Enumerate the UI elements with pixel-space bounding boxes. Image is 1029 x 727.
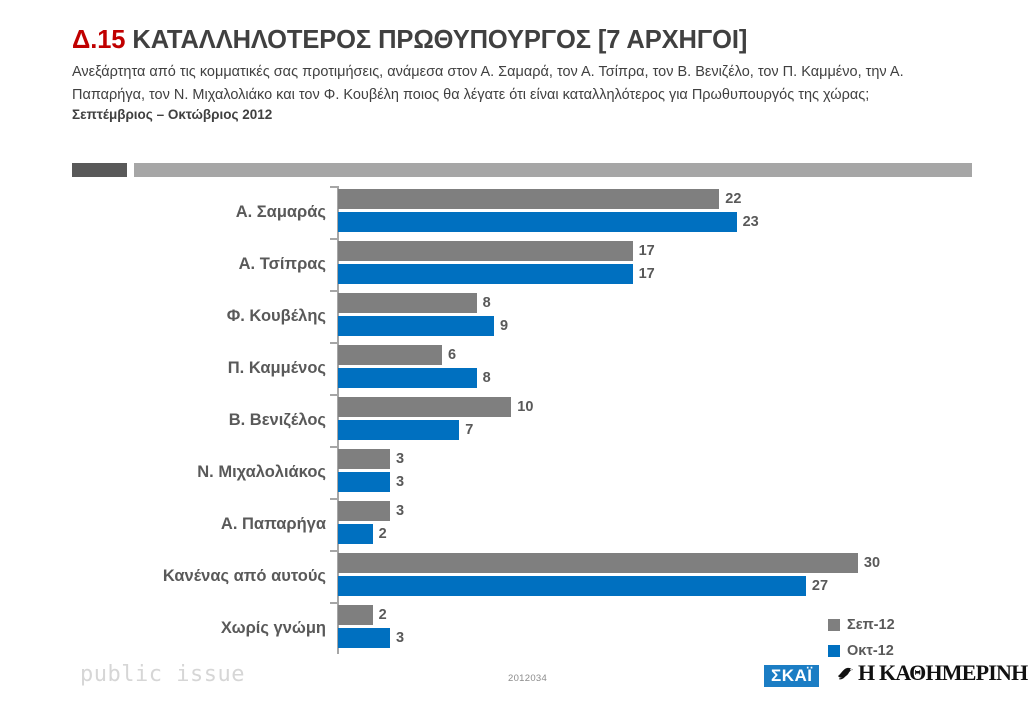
bar-value-label: 7 <box>465 420 473 440</box>
bar-value-label: 2 <box>379 605 387 625</box>
chart-category-row: Α. Τσίπρας1717 <box>0 238 1029 290</box>
bar-okt-12[interactable]: 9 <box>338 316 494 336</box>
question-code: Δ.15 <box>72 26 125 54</box>
legend-swatch-okt <box>828 645 840 657</box>
bar-okt-12[interactable]: 27 <box>338 576 806 596</box>
category-label: Χωρίς γνώμη <box>221 602 326 654</box>
bar-sep-12[interactable]: 10 <box>338 397 511 417</box>
bar-sep-12[interactable]: 8 <box>338 293 477 313</box>
bar-value-label: 3 <box>396 628 404 648</box>
axis-tick <box>330 238 338 240</box>
axis-tick <box>330 342 338 344</box>
divider-segment-light <box>134 163 972 177</box>
bar-value-label: 30 <box>864 553 880 573</box>
legend-label-sep: Σεπ-12 <box>847 617 895 633</box>
category-label: Φ. Κουβέλης <box>227 290 326 342</box>
bar-okt-12[interactable]: 2 <box>338 524 373 544</box>
bar-sep-12[interactable]: 6 <box>338 345 442 365</box>
survey-period: Σεπτέμβριος – Οκτώβριος 2012 <box>72 107 972 122</box>
legend-swatch-sep <box>828 619 840 631</box>
category-label: Κανένας από αυτούς <box>163 550 326 602</box>
logo-kathimerini: Η ΚΑΘΗΜΕΡΙΝΗ <box>836 662 1027 684</box>
chart-category-row: Φ. Κουβέλης89 <box>0 290 1029 342</box>
bar-sep-12[interactable]: 30 <box>338 553 858 573</box>
axis-tick <box>330 290 338 292</box>
bar-value-label: 8 <box>483 368 491 388</box>
question-text: Ανεξάρτητα από τις κομματικές σας προτιμ… <box>72 61 952 106</box>
bar-sep-12[interactable]: 3 <box>338 501 390 521</box>
bar-okt-12[interactable]: 8 <box>338 368 477 388</box>
title-text: ΚΑΤΑΛΛΗΛΟΤΕΡΟΣ ΠΡΩΘΥΠΟΥΡΓΟΣ [7 ΑΡΧΗΓΟΙ] <box>132 26 747 54</box>
divider-segment-dark <box>72 163 127 177</box>
bar-value-label: 10 <box>517 397 533 417</box>
category-label: Ν. Μιχαλολιάκος <box>197 446 326 498</box>
chart-legend: Σεπ-12 Οκτ-12 <box>828 612 895 664</box>
bar-okt-12[interactable]: 7 <box>338 420 459 440</box>
bar-value-label: 6 <box>448 345 456 365</box>
header-divider-bar <box>72 163 972 177</box>
chart-category-row: Ν. Μιχαλολιάκος33 <box>0 446 1029 498</box>
chart-category-row: Π. Καμμένος68 <box>0 342 1029 394</box>
legend-item[interactable]: Σεπ-12 <box>828 612 895 638</box>
logo-skai: ΣΚΑΪ <box>764 665 819 687</box>
bar-value-label: 3 <box>396 449 404 469</box>
bar-value-label: 17 <box>639 264 655 284</box>
bar-value-label: 9 <box>500 316 508 336</box>
publisher-logo-public-issue: public issue <box>80 662 245 687</box>
bar-okt-12[interactable]: 17 <box>338 264 633 284</box>
slide-header: Δ.15 ΚΑΤΑΛΛΗΛΟΤΕΡΟΣ ΠΡΩΘΥΠΟΥΡΓΟΣ [7 ΑΡΧΗ… <box>72 26 972 122</box>
category-label: Α. Παπαρήγα <box>221 498 326 550</box>
axis-tick <box>330 498 338 500</box>
axis-tick <box>330 186 338 188</box>
bar-okt-12[interactable]: 3 <box>338 628 390 648</box>
category-label: Β. Βενιζέλος <box>229 394 326 446</box>
bar-value-label: 3 <box>396 501 404 521</box>
bar-sep-12[interactable]: 3 <box>338 449 390 469</box>
bar-value-label: 23 <box>743 212 759 232</box>
bar-okt-12[interactable]: 23 <box>338 212 737 232</box>
chart-category-row: Β. Βενιζέλος107 <box>0 394 1029 446</box>
legend-label-okt: Οκτ-12 <box>847 643 894 659</box>
category-label: Α. Τσίπρας <box>239 238 326 290</box>
bird-emblem-icon <box>836 663 856 683</box>
bar-value-label: 3 <box>396 472 404 492</box>
bar-sep-12[interactable]: 17 <box>338 241 633 261</box>
bar-value-label: 27 <box>812 576 828 596</box>
bar-sep-12[interactable]: 22 <box>338 189 719 209</box>
bar-value-label: 22 <box>725 189 741 209</box>
bar-chart: Α. Σαμαράς2223Α. Τσίπρας1717Φ. Κουβέλης8… <box>0 186 1029 656</box>
chart-category-row: Α. Σαμαράς2223 <box>0 186 1029 238</box>
page-title: Δ.15 ΚΑΤΑΛΛΗΛΟΤΕΡΟΣ ΠΡΩΘΥΠΟΥΡΓΟΣ [7 ΑΡΧΗ… <box>72 26 972 55</box>
slide-canvas: Δ.15 ΚΑΤΑΛΛΗΛΟΤΕΡΟΣ ΠΡΩΘΥΠΟΥΡΓΟΣ [7 ΑΡΧΗ… <box>0 0 1029 727</box>
bar-value-label: 2 <box>379 524 387 544</box>
bar-sep-12[interactable]: 2 <box>338 605 373 625</box>
bar-okt-12[interactable]: 3 <box>338 472 390 492</box>
chart-category-row: Α. Παπαρήγα32 <box>0 498 1029 550</box>
survey-reference-code: 2012034 <box>508 673 547 684</box>
category-label: Α. Σαμαράς <box>236 186 326 238</box>
axis-tick <box>330 602 338 604</box>
axis-tick <box>330 550 338 552</box>
axis-tick <box>330 394 338 396</box>
logo-kathimerini-text: Η ΚΑΘΗΜΕΡΙΝΗ <box>858 662 1027 684</box>
bar-value-label: 17 <box>639 241 655 261</box>
chart-category-row: Κανένας από αυτούς3027 <box>0 550 1029 602</box>
axis-tick <box>330 446 338 448</box>
category-label: Π. Καμμένος <box>228 342 326 394</box>
bar-value-label: 8 <box>483 293 491 313</box>
